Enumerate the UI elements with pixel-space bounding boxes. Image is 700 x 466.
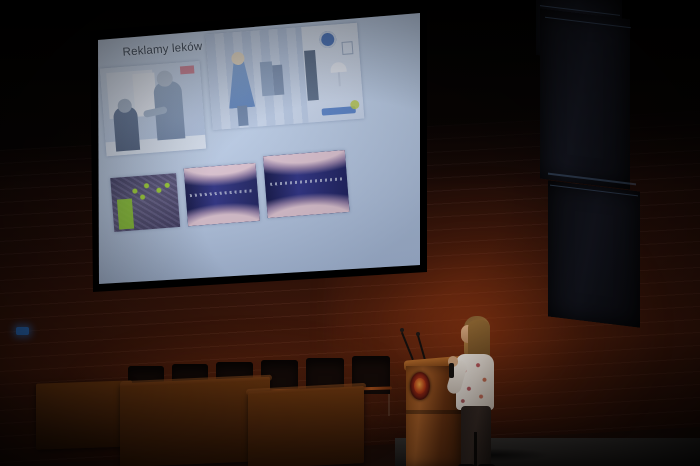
wall-picture-frame — [341, 41, 353, 55]
microphone-head-2 — [416, 332, 420, 336]
street-facade — [205, 27, 308, 130]
microphone-head-1 — [400, 328, 404, 332]
slide-content: Reklamy leków i suplementów diety — [78, 4, 428, 294]
chair-6-leg-2 — [388, 394, 390, 416]
wall-indicator-light — [16, 327, 29, 335]
institution-crest — [410, 372, 430, 400]
person-left-body — [113, 106, 140, 152]
projection-screen: Reklamy leków i suplementów diety — [78, 4, 428, 294]
slide-image-medical-2 — [184, 163, 260, 226]
presenter-leg-gap — [474, 432, 477, 466]
handheld-microphone — [449, 363, 454, 378]
institution-crest-inner — [414, 378, 426, 394]
presentation-photo: Reklamy leków i suplementów diety — [0, 0, 700, 466]
slide-image-medical-3 — [263, 150, 350, 218]
green-bar-indicator — [117, 199, 134, 230]
acoustic-panel-middle — [540, 8, 630, 189]
desk-left — [36, 380, 132, 449]
presenter — [448, 316, 508, 466]
slide-image-pharmacy-counter — [100, 61, 206, 156]
slide-image-medical-1 — [110, 173, 180, 232]
screen-surface: Reklamy leków i suplementów diety — [78, 4, 428, 294]
desk-right — [248, 386, 364, 466]
acoustic-panel-lower — [548, 180, 640, 327]
slide-image-street-interior — [205, 23, 364, 130]
woman-legs — [237, 105, 249, 126]
poster-red-logo — [180, 65, 195, 74]
